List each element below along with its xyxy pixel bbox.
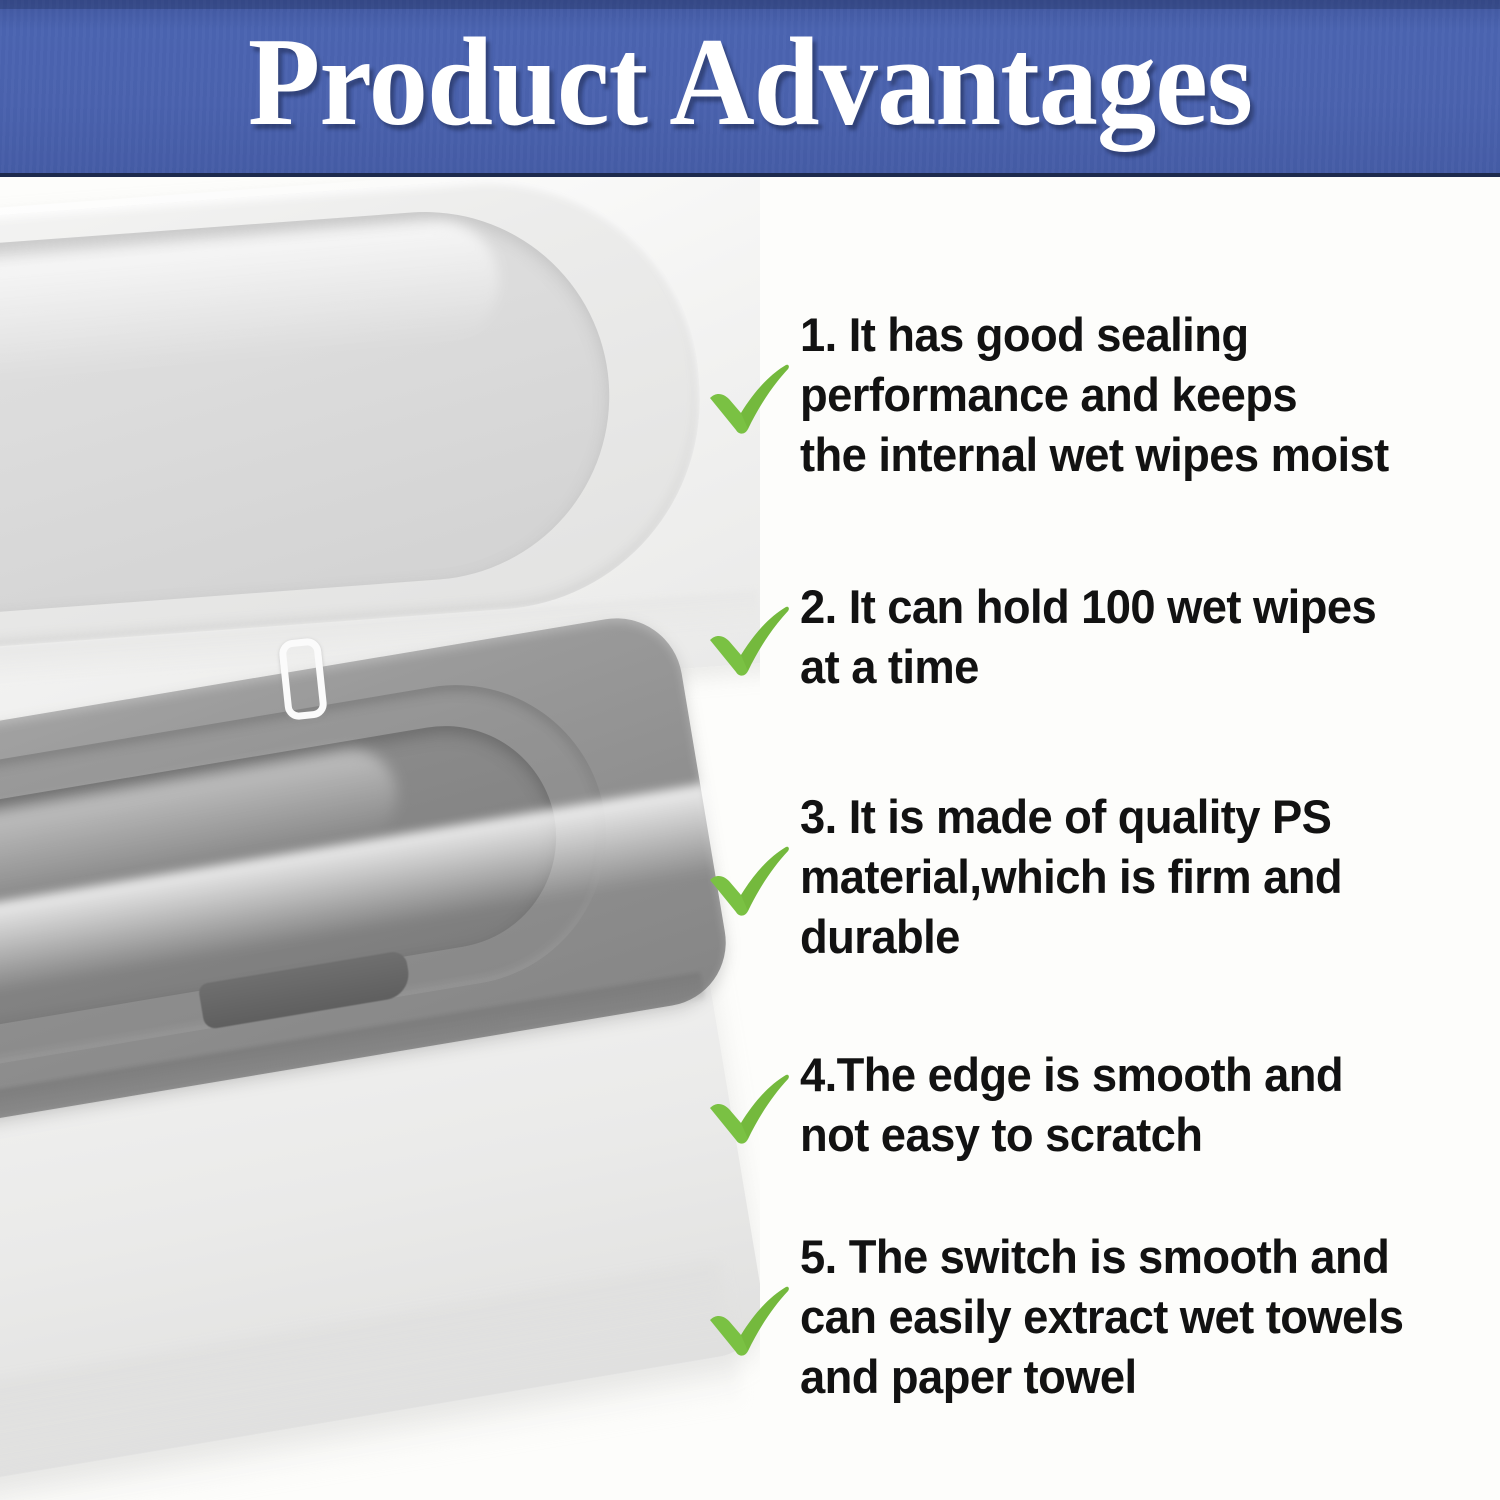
page-title: Product Advantages xyxy=(45,8,1455,158)
green-checkmark-icon xyxy=(700,593,796,681)
green-checkmark-icon xyxy=(700,351,796,439)
green-checkmark-icon xyxy=(700,833,796,921)
advantage-item-2: 2. It can hold 100 wet wipes at a time xyxy=(700,577,1500,697)
product-photo xyxy=(0,177,760,1500)
advantage-item-4: 4.The edge is smooth and not easy to scr… xyxy=(700,1045,1500,1165)
advantage-text: 1. It has good sealing performance and k… xyxy=(800,305,1476,485)
advantage-text: 2. It can hold 100 wet wipes at a time xyxy=(800,577,1476,697)
lid-latch-hinge xyxy=(278,637,328,721)
green-checkmark-icon xyxy=(700,1061,796,1149)
advantage-text: 4.The edge is smooth and not easy to scr… xyxy=(800,1045,1476,1165)
advantages-list: 1. It has good sealing performance and k… xyxy=(700,177,1500,1500)
header-banner: Product Advantages xyxy=(0,0,1500,177)
advantage-item-1: 1. It has good sealing performance and k… xyxy=(700,305,1500,485)
green-checkmark-icon xyxy=(700,1273,796,1361)
advantage-text: 5. The switch is smooth and can easily e… xyxy=(800,1227,1476,1407)
product-advantages-infographic: Product Advantages 1. It has good sea xyxy=(0,0,1500,1500)
advantage-item-5: 5. The switch is smooth and can easily e… xyxy=(700,1227,1500,1407)
advantage-text: 3. It is made of quality PS material,whi… xyxy=(800,787,1476,967)
advantage-item-3: 3. It is made of quality PS material,whi… xyxy=(700,787,1500,967)
